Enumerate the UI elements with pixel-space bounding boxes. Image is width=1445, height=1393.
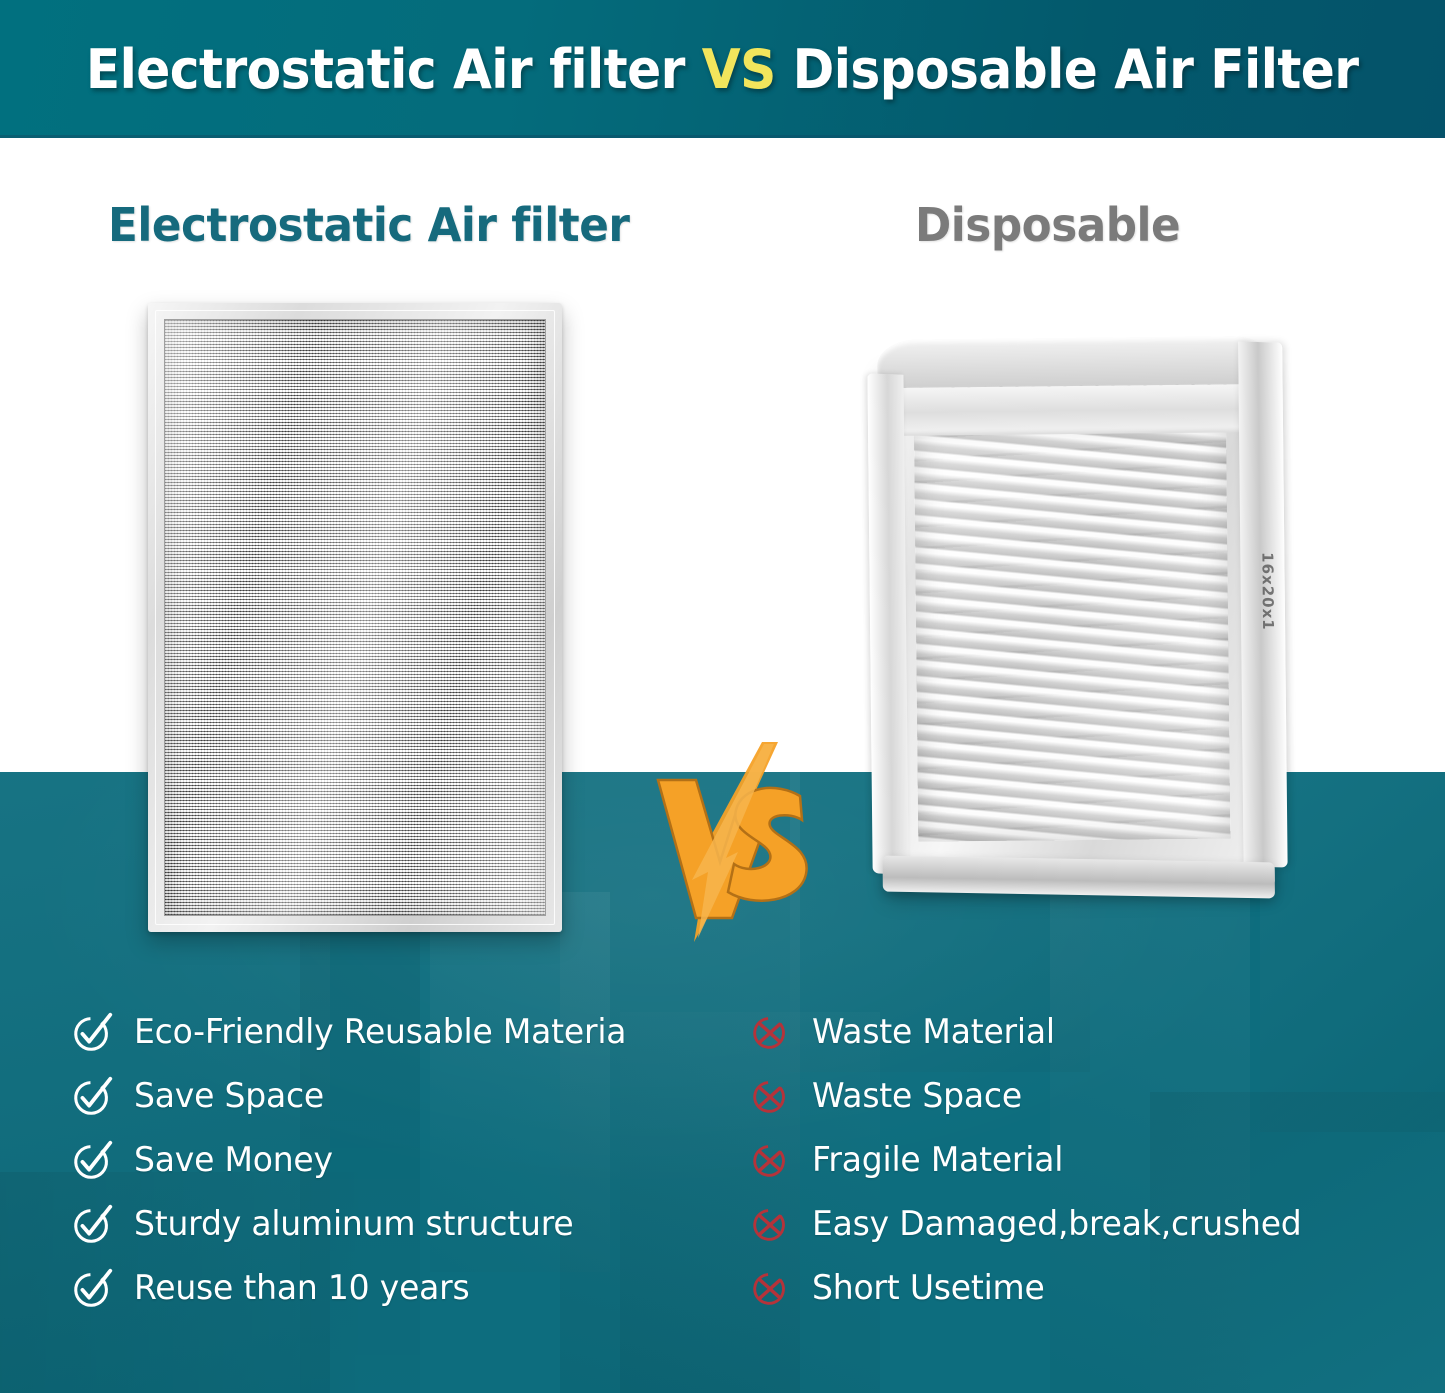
cons-list: Waste Material Waste Space Fragile Mater… <box>748 1000 1438 1320</box>
list-item: Eco-Friendly Reusable Materia <box>70 1000 750 1064</box>
page-title-vs: VS <box>702 38 776 101</box>
list-item: Save Money <box>70 1128 750 1192</box>
list-item: Sturdy aluminum structure <box>70 1192 750 1256</box>
disposable-filter-image: 16x20x1 <box>867 336 1288 897</box>
pros-list: Eco-Friendly Reusable Materia Save Space… <box>70 1000 750 1320</box>
disposable-filter-top-lip <box>877 336 1272 388</box>
list-item-label: Waste Material <box>812 1012 1055 1052</box>
right-product-label: Disposable <box>915 198 1180 252</box>
left-product-label: Electrostatic Air filter <box>108 198 629 252</box>
list-item-label: Eco-Friendly Reusable Materia <box>134 1012 626 1052</box>
list-item-label: Save Space <box>134 1076 324 1116</box>
check-circle-icon <box>70 1265 116 1311</box>
list-item: Short Usetime <box>748 1256 1438 1320</box>
comparison-infographic: Electrostatic Air filter VS Disposable A… <box>0 0 1445 1393</box>
list-item: Fragile Material <box>748 1128 1438 1192</box>
disposable-filter-left-edge <box>867 373 908 874</box>
vs-badge <box>650 742 830 942</box>
disposable-filter-right-edge: 16x20x1 <box>1238 342 1288 868</box>
list-item: Reuse than 10 years <box>70 1256 750 1320</box>
check-circle-icon <box>70 1009 116 1055</box>
electrostatic-filter-image <box>148 303 562 932</box>
page-title: Electrostatic Air filter VS Disposable A… <box>86 38 1359 101</box>
x-circle-icon <box>748 1137 794 1183</box>
fiberglass-media-texture <box>914 420 1230 841</box>
list-item-label: Easy Damaged,break,crushed <box>812 1204 1302 1244</box>
filter-size-label: 16x20x1 <box>1258 552 1277 631</box>
page-title-part1: Electrostatic Air filter <box>86 38 702 101</box>
list-item: Easy Damaged,break,crushed <box>748 1192 1438 1256</box>
x-circle-icon <box>748 1265 794 1311</box>
check-circle-icon <box>70 1137 116 1183</box>
page-title-part2: Disposable Air Filter <box>776 38 1359 101</box>
list-item-label: Sturdy aluminum structure <box>134 1204 573 1244</box>
list-item: Save Space <box>70 1064 750 1128</box>
list-item-label: Waste Space <box>812 1076 1022 1116</box>
check-circle-icon <box>70 1073 116 1119</box>
list-item-label: Save Money <box>134 1140 333 1180</box>
list-item-label: Reuse than 10 years <box>134 1268 470 1308</box>
x-circle-icon <box>748 1201 794 1247</box>
x-circle-icon <box>748 1009 794 1055</box>
check-circle-icon <box>70 1201 116 1247</box>
list-item-label: Short Usetime <box>812 1268 1045 1308</box>
header-banner: Electrostatic Air filter VS Disposable A… <box>0 0 1445 138</box>
x-circle-icon <box>748 1073 794 1119</box>
disposable-filter-body <box>881 358 1275 890</box>
list-item: Waste Space <box>748 1064 1438 1128</box>
aluminum-mesh-texture <box>164 319 546 916</box>
list-item: Waste Material <box>748 1000 1438 1064</box>
list-item-label: Fragile Material <box>812 1140 1063 1180</box>
disposable-filter-bottom-lip <box>882 856 1274 899</box>
